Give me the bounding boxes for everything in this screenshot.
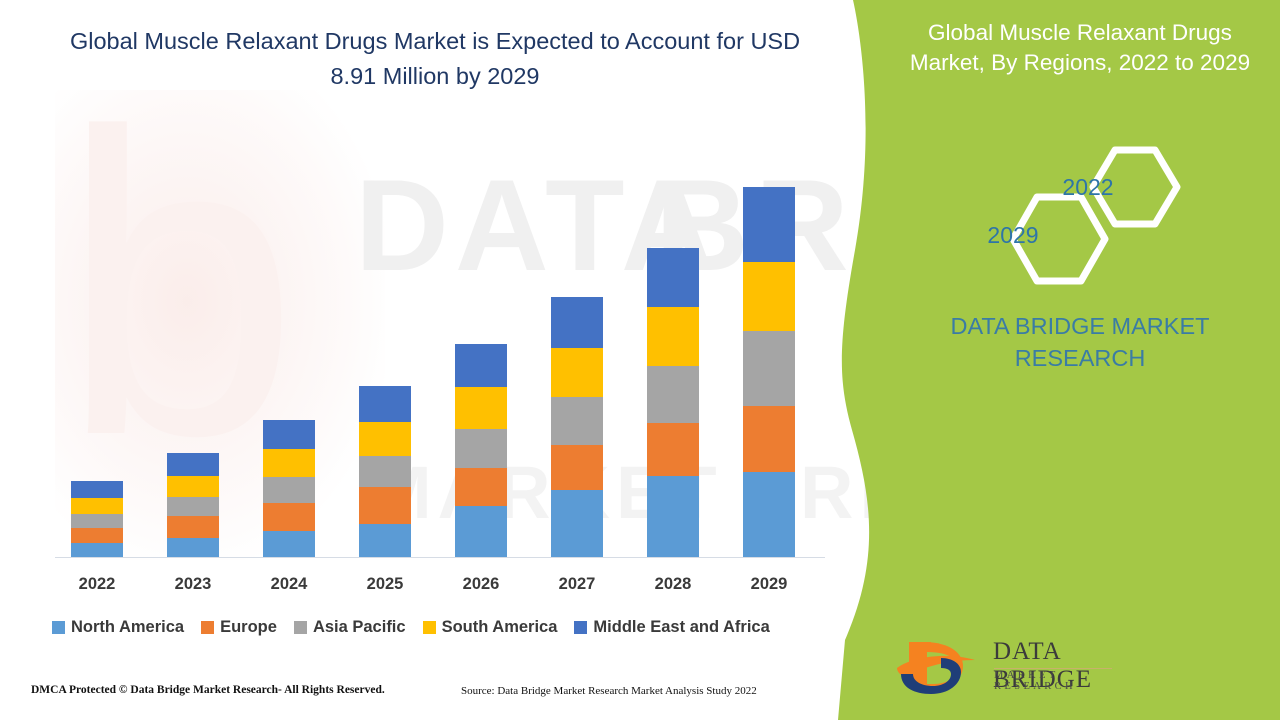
bar-segment-asia-pacific[interactable] xyxy=(551,397,603,445)
bar-segment-europe[interactable] xyxy=(743,406,795,472)
bar-segment-south-america[interactable] xyxy=(743,262,795,331)
bar-segment-north-america[interactable] xyxy=(263,531,315,557)
bar-segment-south-america[interactable] xyxy=(263,449,315,477)
data-bridge-logo: DATA BRIDGE MARKET RESEARCH xyxy=(893,634,1113,696)
panel-title: Global Muscle Relaxant Drugs Market, By … xyxy=(890,18,1270,78)
legend-swatch-icon xyxy=(574,621,587,634)
bar-segment-europe[interactable] xyxy=(647,423,699,475)
bar-segment-middle-east-and-africa[interactable] xyxy=(71,481,123,498)
right-panel: Global Muscle Relaxant Drugs Market, By … xyxy=(880,0,1280,720)
bar-segment-asia-pacific[interactable] xyxy=(263,477,315,502)
legend-swatch-icon xyxy=(294,621,307,634)
x-axis-tick-2022: 2022 xyxy=(49,575,145,594)
x-axis-tick-2028: 2028 xyxy=(625,575,721,594)
logo-subtitle: MARKET RESEARCH xyxy=(994,670,1113,692)
x-axis-tick-2023: 2023 xyxy=(145,575,241,594)
bar-2022[interactable] xyxy=(71,481,123,557)
bar-segment-middle-east-and-africa[interactable] xyxy=(551,297,603,348)
hexagon-2029-label: 2029 xyxy=(963,222,1063,249)
bar-2024[interactable] xyxy=(263,420,315,557)
legend-swatch-icon xyxy=(52,621,65,634)
logo-mark-icon xyxy=(893,634,988,696)
legend-label: Asia Pacific xyxy=(313,618,406,637)
bar-segment-north-america[interactable] xyxy=(551,490,603,557)
footer-source: Source: Data Bridge Market Research Mark… xyxy=(461,685,757,697)
bar-segment-europe[interactable] xyxy=(263,503,315,531)
bar-segment-south-america[interactable] xyxy=(71,498,123,514)
stacked-bar-chart: 20222023202420252026202720282029 xyxy=(0,0,880,720)
bar-segment-south-america[interactable] xyxy=(167,476,219,498)
bar-2028[interactable] xyxy=(647,248,699,557)
x-axis-tick-2026: 2026 xyxy=(433,575,529,594)
bar-segment-north-america[interactable] xyxy=(743,472,795,557)
legend-item-south-america[interactable]: South America xyxy=(423,618,558,637)
bar-segment-north-america[interactable] xyxy=(167,538,219,557)
legend-label: South America xyxy=(442,618,558,637)
bar-2025[interactable] xyxy=(359,386,411,557)
bar-segment-asia-pacific[interactable] xyxy=(167,497,219,516)
bar-segment-asia-pacific[interactable] xyxy=(743,331,795,406)
bar-2026[interactable] xyxy=(455,344,507,557)
bar-segment-middle-east-and-africa[interactable] xyxy=(263,420,315,449)
bar-segment-europe[interactable] xyxy=(167,516,219,537)
bar-segment-asia-pacific[interactable] xyxy=(455,429,507,468)
legend-item-middle-east-and-africa[interactable]: Middle East and Africa xyxy=(574,618,769,637)
legend-item-asia-pacific[interactable]: Asia Pacific xyxy=(294,618,406,637)
page-title: Global Muscle Relaxant Drugs Market is E… xyxy=(55,24,815,94)
bar-segment-north-america[interactable] xyxy=(647,476,699,557)
panel-brand-text: DATA BRIDGE MARKET RESEARCH xyxy=(895,310,1265,374)
legend-item-north-america[interactable]: North America xyxy=(52,618,184,637)
bar-segment-europe[interactable] xyxy=(551,445,603,490)
x-axis-tick-2029: 2029 xyxy=(721,575,817,594)
bar-segment-europe[interactable] xyxy=(71,528,123,543)
bar-segment-south-america[interactable] xyxy=(647,307,699,367)
bar-segment-middle-east-and-africa[interactable] xyxy=(167,453,219,476)
bar-segment-north-america[interactable] xyxy=(359,524,411,557)
bar-segment-south-america[interactable] xyxy=(455,387,507,429)
bar-segment-asia-pacific[interactable] xyxy=(647,366,699,423)
bar-2029[interactable] xyxy=(743,187,795,557)
legend-swatch-icon xyxy=(423,621,436,634)
bar-2027[interactable] xyxy=(551,297,603,557)
legend-label: North America xyxy=(71,618,184,637)
hexagon-group: 2022 2029 xyxy=(985,142,1215,292)
legend-item-europe[interactable]: Europe xyxy=(201,618,277,637)
x-axis-tick-2027: 2027 xyxy=(529,575,625,594)
bar-segment-middle-east-and-africa[interactable] xyxy=(359,386,411,422)
chart-baseline xyxy=(55,557,825,558)
hexagon-2022-label: 2022 xyxy=(1038,174,1138,201)
bar-segment-middle-east-and-africa[interactable] xyxy=(455,344,507,388)
footer-copyright: DMCA Protected © Data Bridge Market Rese… xyxy=(31,684,385,696)
bar-segment-south-america[interactable] xyxy=(359,422,411,455)
bar-segment-middle-east-and-africa[interactable] xyxy=(647,248,699,307)
bar-segment-south-america[interactable] xyxy=(551,348,603,397)
bar-segment-middle-east-and-africa[interactable] xyxy=(743,187,795,262)
legend-label: Middle East and Africa xyxy=(593,618,769,637)
bar-segment-europe[interactable] xyxy=(455,468,507,506)
bar-segment-north-america[interactable] xyxy=(71,543,123,557)
bar-segment-europe[interactable] xyxy=(359,487,411,523)
hexagon-shapes xyxy=(985,142,1215,292)
bar-segment-north-america[interactable] xyxy=(455,506,507,557)
x-axis-tick-2025: 2025 xyxy=(337,575,433,594)
legend-label: Europe xyxy=(220,618,277,637)
legend-swatch-icon xyxy=(201,621,214,634)
bar-segment-asia-pacific[interactable] xyxy=(359,456,411,487)
x-axis-tick-2024: 2024 xyxy=(241,575,337,594)
chart-legend: North AmericaEuropeAsia PacificSouth Ame… xyxy=(52,618,787,637)
bar-2023[interactable] xyxy=(167,453,219,557)
logo-divider xyxy=(994,668,1112,669)
bar-segment-asia-pacific[interactable] xyxy=(71,514,123,527)
infographic-canvas: b DATA BRIDGE MARKET RESEARCH Global Mus… xyxy=(0,0,1280,720)
